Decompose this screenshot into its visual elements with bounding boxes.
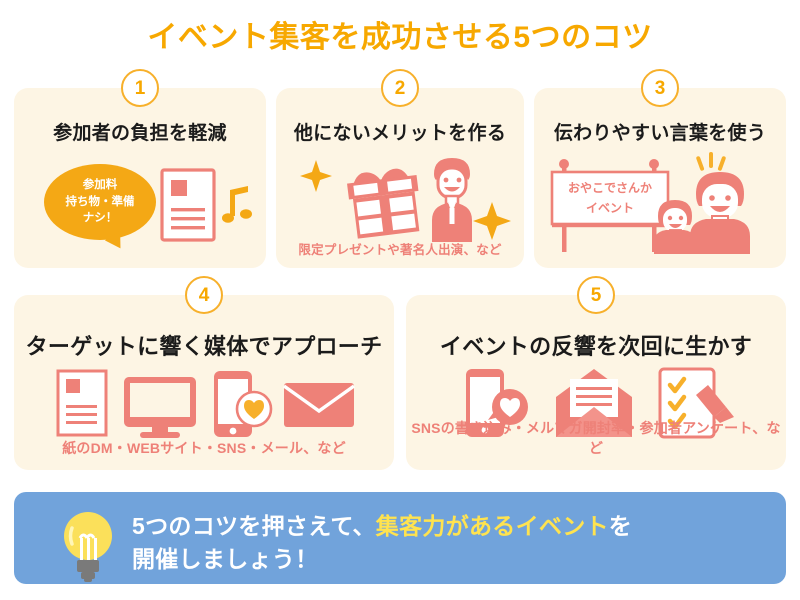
smartphone-heart-icon [214, 371, 271, 437]
card-1-number-badge: 1 [121, 69, 159, 107]
card-2-heading: 他にないメリットを作る [276, 118, 524, 145]
footer-message: 5つのコツを押さえて、集客力があるイベントを 開催しましょう！ [132, 510, 772, 575]
page-title: イベント集客を成功させる5つのコツ [0, 12, 800, 56]
card-5-heading: イベントの反響を次回に生かす [406, 329, 786, 361]
card-3-number-badge: 3 [641, 69, 679, 107]
card-2-caption: 限定プレゼントや著名人出演、など [276, 239, 524, 258]
sparkle-icon [473, 202, 511, 240]
gift-box-icon [346, 166, 423, 239]
card-3: 3 伝わりやすい言葉を使う [534, 88, 786, 268]
music-note-icon [222, 186, 252, 223]
sign-line-1: おやこでさんか [568, 181, 652, 195]
card-1-heading: 参加者の負担を軽減 [14, 118, 266, 145]
card-1: 1 参加者の負担を軽減 参加料 持ち物・準備 ナシ！ [14, 88, 266, 268]
footer-line1-highlight: 集客力があるイベント [376, 513, 609, 539]
card-3-heading: 伝わりやすい言葉を使う [534, 118, 786, 145]
footer-line2: 開催しましょう！ [132, 546, 318, 572]
card-2-illustration [294, 150, 524, 242]
card-5-caption: SNSの書き込み・メルマガ開封率・参加者アンケート、など [406, 418, 786, 458]
bubble-line-1: 参加料 [83, 177, 118, 194]
card-4-caption: 紙のDM・WEBサイト・SNS・メール、など [14, 438, 394, 458]
lightbulb-icon [58, 508, 118, 582]
monitor-icon [124, 377, 196, 438]
card-4-illustration [56, 369, 356, 439]
card-2: 2 他にないメリットを作る [276, 88, 524, 268]
card-5: 5 イベントの反響を次回に生かす [406, 295, 786, 470]
envelope-icon [284, 383, 354, 427]
excitement-lines-icon [696, 152, 727, 171]
footer-line1-before: 5つのコツを押さえて、 [132, 513, 376, 539]
card-4-number-badge: 4 [185, 276, 223, 314]
card-3-illustration: おやこでさんか イベント [546, 150, 778, 258]
card-4-heading: ターゲットに響く媒体でアプローチ [14, 329, 394, 361]
direct-mail-icon [58, 371, 106, 435]
footer-line1-after: を [609, 513, 632, 539]
card-2-number-badge: 2 [381, 69, 419, 107]
celebrity-person-icon [432, 158, 472, 242]
sparkle-icon [300, 160, 332, 192]
bubble-line-2: 持ち物・準備 [66, 194, 135, 211]
speech-bubble-free-participation: 参加料 持ち物・準備 ナシ！ [44, 164, 156, 240]
sign-line-2: イベント [586, 201, 634, 215]
card-5-number-badge: 5 [577, 276, 615, 314]
footer-banner: 5つのコツを押さえて、集客力があるイベントを 開催しましょう！ [14, 492, 786, 584]
infographic-page: イベント集客を成功させる5つのコツ 1 参加者の負担を軽減 参加料 持ち物・準備… [0, 0, 800, 600]
document-icon [160, 168, 270, 254]
card-4: 4 ターゲットに響く媒体でアプローチ [14, 295, 394, 470]
bubble-line-3: ナシ！ [83, 210, 118, 227]
